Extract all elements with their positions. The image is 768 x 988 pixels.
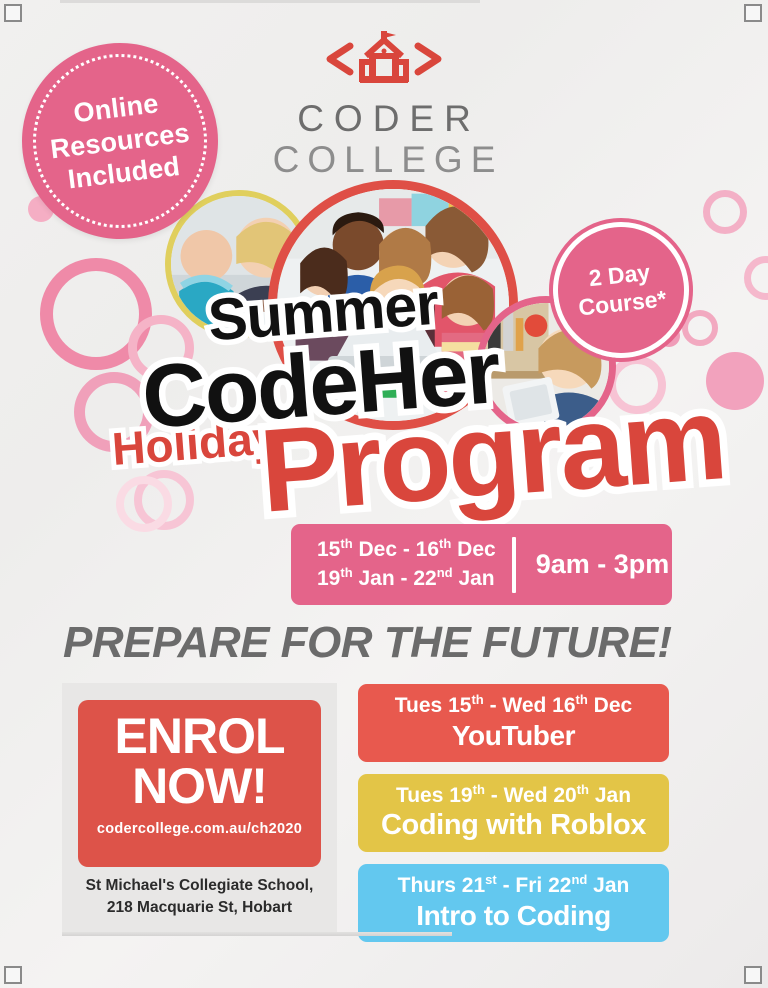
crop-mark-top-left <box>4 4 22 22</box>
crop-mark-bottom-left <box>4 966 22 984</box>
crop-mark-bottom-right <box>744 966 762 984</box>
venue-address: St Michael's Collegiate School, 218 Macq… <box>62 875 337 920</box>
banner-dates: 15th Dec - 16th Dec 19th Jan - 22nd Jan <box>291 536 496 593</box>
course-2-date: Tues 19th - Wed 20th Jan <box>358 784 669 808</box>
date-time-banner: 15th Dec - 16th Dec 19th Jan - 22nd Jan … <box>291 524 672 605</box>
enrol-url[interactable]: codercollege.com.au/ch2020 <box>78 821 321 837</box>
course-3-title: Intro to Coding <box>358 899 669 932</box>
poster-canvas: CODER COLLEGE <box>0 0 768 988</box>
decor-bubble <box>703 190 747 234</box>
course-1-title: YouTuber <box>358 719 669 752</box>
crop-mark-top-right <box>744 4 762 22</box>
decor-bubble <box>116 476 172 532</box>
enrol-panel: ENROL NOW! codercollege.com.au/ch2020 St… <box>62 683 337 932</box>
banner-divider <box>512 537 516 593</box>
enrol-line-2: NOW! <box>78 761 321 812</box>
decor-bubble <box>682 310 718 346</box>
course-2-title: Coding with Roblox <box>358 808 669 842</box>
enrol-line-1: ENROL <box>78 712 321 761</box>
course-card-coding-with-roblox[interactable]: Tues 19th - Wed 20th Jan Coding with Rob… <box>358 774 669 852</box>
venue-address-line-1: St Michael's Collegiate School, <box>62 875 337 897</box>
badge-online-text: Online Resources Included <box>45 83 196 198</box>
school-code-brackets-icon <box>314 26 454 88</box>
banner-date-line-1: 15th Dec - 16th Dec <box>317 536 496 564</box>
course-card-intro-to-coding[interactable]: Thurs 21st - Fri 22nd Jan Intro to Codin… <box>358 864 669 942</box>
course-3-date: Thurs 21st - Fri 22nd Jan <box>358 874 669 898</box>
badge-two-day-text: 2 Day Course* <box>574 258 667 322</box>
page-edge-strip-bottom <box>62 932 452 936</box>
banner-time: 9am - 3pm <box>536 549 670 580</box>
course-card-youtuber[interactable]: Tues 15th - Wed 16th Dec YouTuber <box>358 684 669 762</box>
banner-date-line-2: 19th Jan - 22nd Jan <box>317 565 496 593</box>
enrol-now-button[interactable]: ENROL NOW! codercollege.com.au/ch2020 <box>78 700 321 867</box>
page-edge-strip-top <box>60 0 480 3</box>
venue-address-line-2: 218 Macquarie St, Hobart <box>62 897 337 919</box>
course-1-date: Tues 15th - Wed 16th Dec <box>358 694 669 718</box>
tagline-prepare-for-the-future: PREPARE FOR THE FUTURE! <box>63 618 672 668</box>
decor-bubble <box>744 256 768 300</box>
